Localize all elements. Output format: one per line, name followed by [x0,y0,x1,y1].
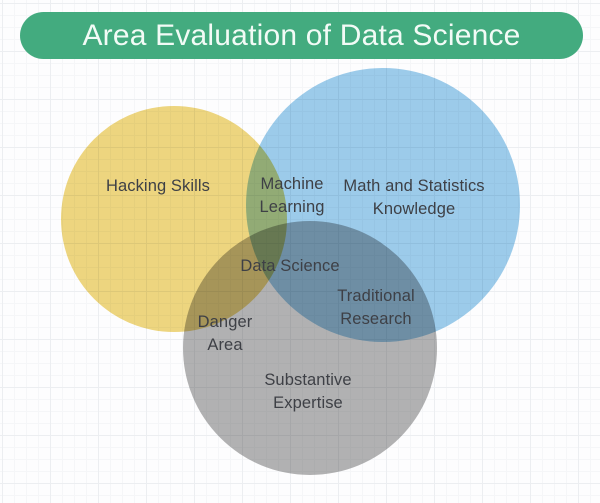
circle-substantive-expertise [183,221,437,475]
venn-circles [0,0,600,503]
venn-diagram-canvas: Area Evaluation of Data Science Hacking … [0,0,600,503]
